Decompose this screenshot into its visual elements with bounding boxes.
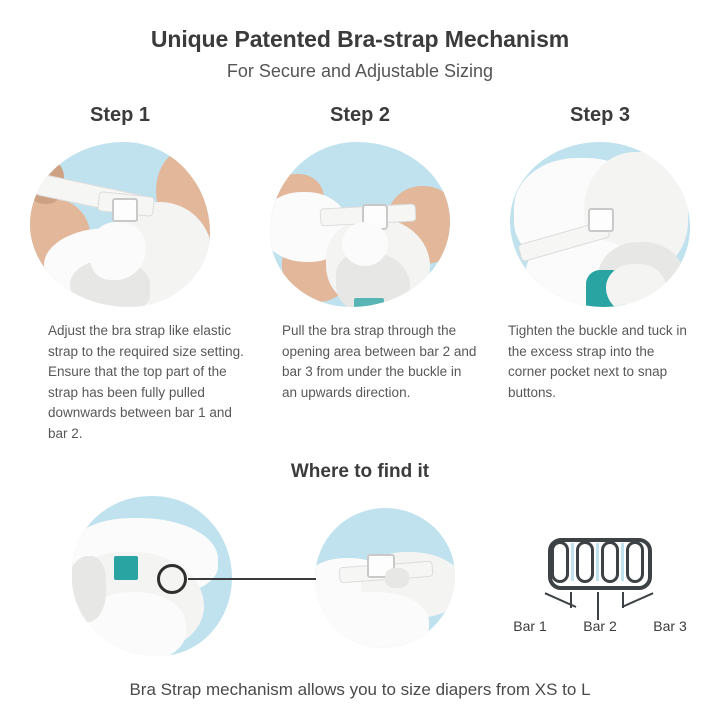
buckle-bars-diagram (548, 538, 652, 590)
buckle-segment-3 (601, 541, 619, 583)
callout-connector-line (188, 578, 316, 580)
step-1-text: Adjust the bra strap like elastic strap … (48, 321, 248, 444)
step-card-2: Step 2 Pull the bra strap through the op… (240, 100, 480, 444)
callout-ring-icon (157, 564, 187, 594)
step-1-image (30, 142, 210, 307)
brand-label-tag (114, 556, 138, 580)
step-card-3: Step 3 Tighten the buckle and tuck in th… (480, 100, 720, 444)
buckle-segment-4 (626, 541, 644, 583)
buckle-bar-3-gap (621, 543, 624, 581)
buckle-bar-2-gap (596, 543, 599, 581)
step-card-1: Step 1 Adjust the bra strap like elastic… (0, 100, 240, 444)
where-to-find-heading: Where to find it (0, 461, 720, 483)
step-1-photo-blob (30, 142, 210, 307)
step-2-photo-blob (270, 142, 450, 307)
step-3-image (510, 142, 690, 307)
step-1-title: Step 1 (0, 100, 240, 130)
step-3-title: Step 3 (480, 100, 720, 130)
step-3-photo-blob (510, 142, 690, 307)
bar-label-1: Bar 1 (500, 618, 560, 634)
footer-note: Bra Strap mechanism allows you to size d… (0, 680, 720, 700)
step-2-title: Step 2 (240, 100, 480, 130)
step-2-image (270, 142, 450, 307)
bar-label-3: Bar 3 (640, 618, 700, 634)
bar-2-leader-vertical (597, 592, 599, 620)
page-subtitle: For Secure and Adjustable Sizing (0, 61, 720, 82)
buckle-bar-1-gap (571, 543, 574, 581)
step-3-text: Tighten the buckle and tuck in the exces… (508, 321, 688, 403)
infographic-page: Unique Patented Bra-strap Mechanism For … (0, 0, 720, 720)
step-2-text: Pull the bra strap through the opening a… (282, 321, 478, 403)
steps-row: Step 1 Adjust the bra strap like elastic… (0, 100, 720, 444)
bar-3-leader-diagonal (622, 592, 654, 608)
page-title: Unique Patented Bra-strap Mechanism (0, 26, 720, 53)
bar-label-2: Bar 2 (570, 618, 630, 634)
buckle-detail-photo (315, 508, 455, 648)
buckle-segment-2 (576, 541, 594, 583)
buckle-segment-1 (551, 541, 569, 583)
bar-labels-row: Bar 1 Bar 2 Bar 3 (500, 618, 700, 634)
diaper-overview-photo (72, 496, 232, 656)
